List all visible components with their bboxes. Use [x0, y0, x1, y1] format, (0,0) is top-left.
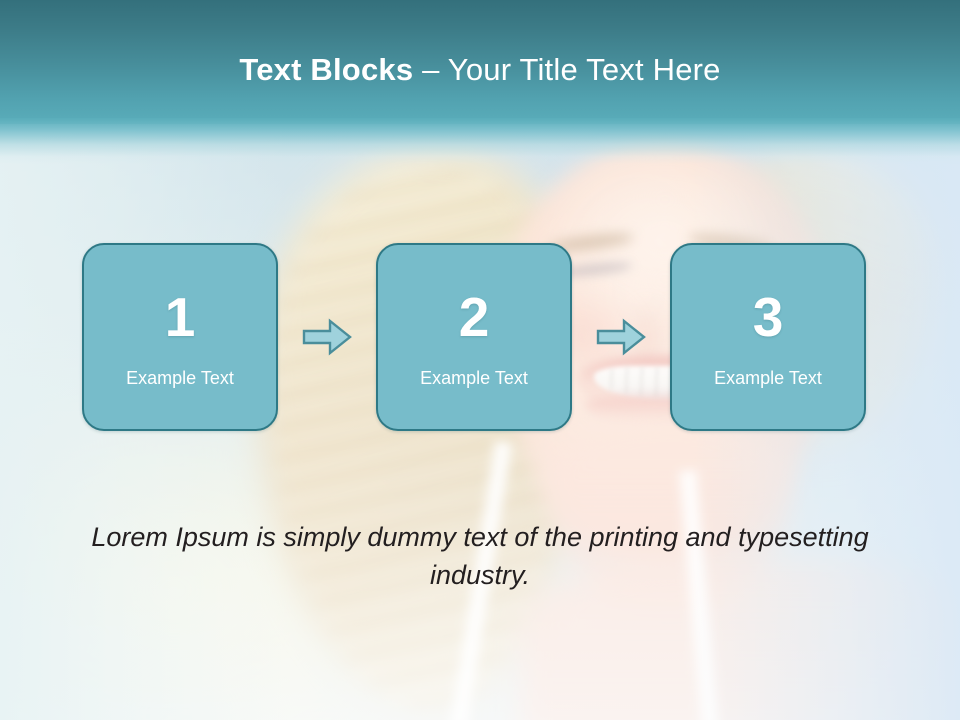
text-block-2[interactable]: 2 Example Text: [376, 243, 572, 431]
connector-1: [278, 317, 376, 357]
title-separator: –: [413, 52, 448, 87]
connector-2: [572, 317, 670, 357]
title-bold-part: Text Blocks: [239, 52, 413, 87]
text-block-3-number: 3: [753, 289, 784, 345]
text-block-1[interactable]: 1 Example Text: [82, 243, 278, 431]
text-block-2-number: 2: [459, 289, 490, 345]
arrow-right-icon: [302, 317, 352, 357]
text-block-2-label: Example Text: [420, 367, 528, 389]
presentation-slide: Text Blocks – Your Title Text Here 1 Exa…: [0, 0, 960, 720]
text-block-1-label: Example Text: [126, 367, 234, 389]
slide-caption: Lorem Ipsum is simply dummy text of the …: [80, 518, 880, 594]
title-light-part: Your Title Text Here: [448, 52, 721, 87]
title-band-fade: [0, 118, 960, 164]
page-title: Text Blocks – Your Title Text Here: [0, 52, 960, 88]
text-block-1-number: 1: [165, 289, 196, 345]
text-block-3-label: Example Text: [714, 367, 822, 389]
arrow-right-icon: [596, 317, 646, 357]
text-block-3[interactable]: 3 Example Text: [670, 243, 866, 431]
text-blocks-row: 1 Example Text 2 Example Text 3 Example: [82, 242, 866, 432]
